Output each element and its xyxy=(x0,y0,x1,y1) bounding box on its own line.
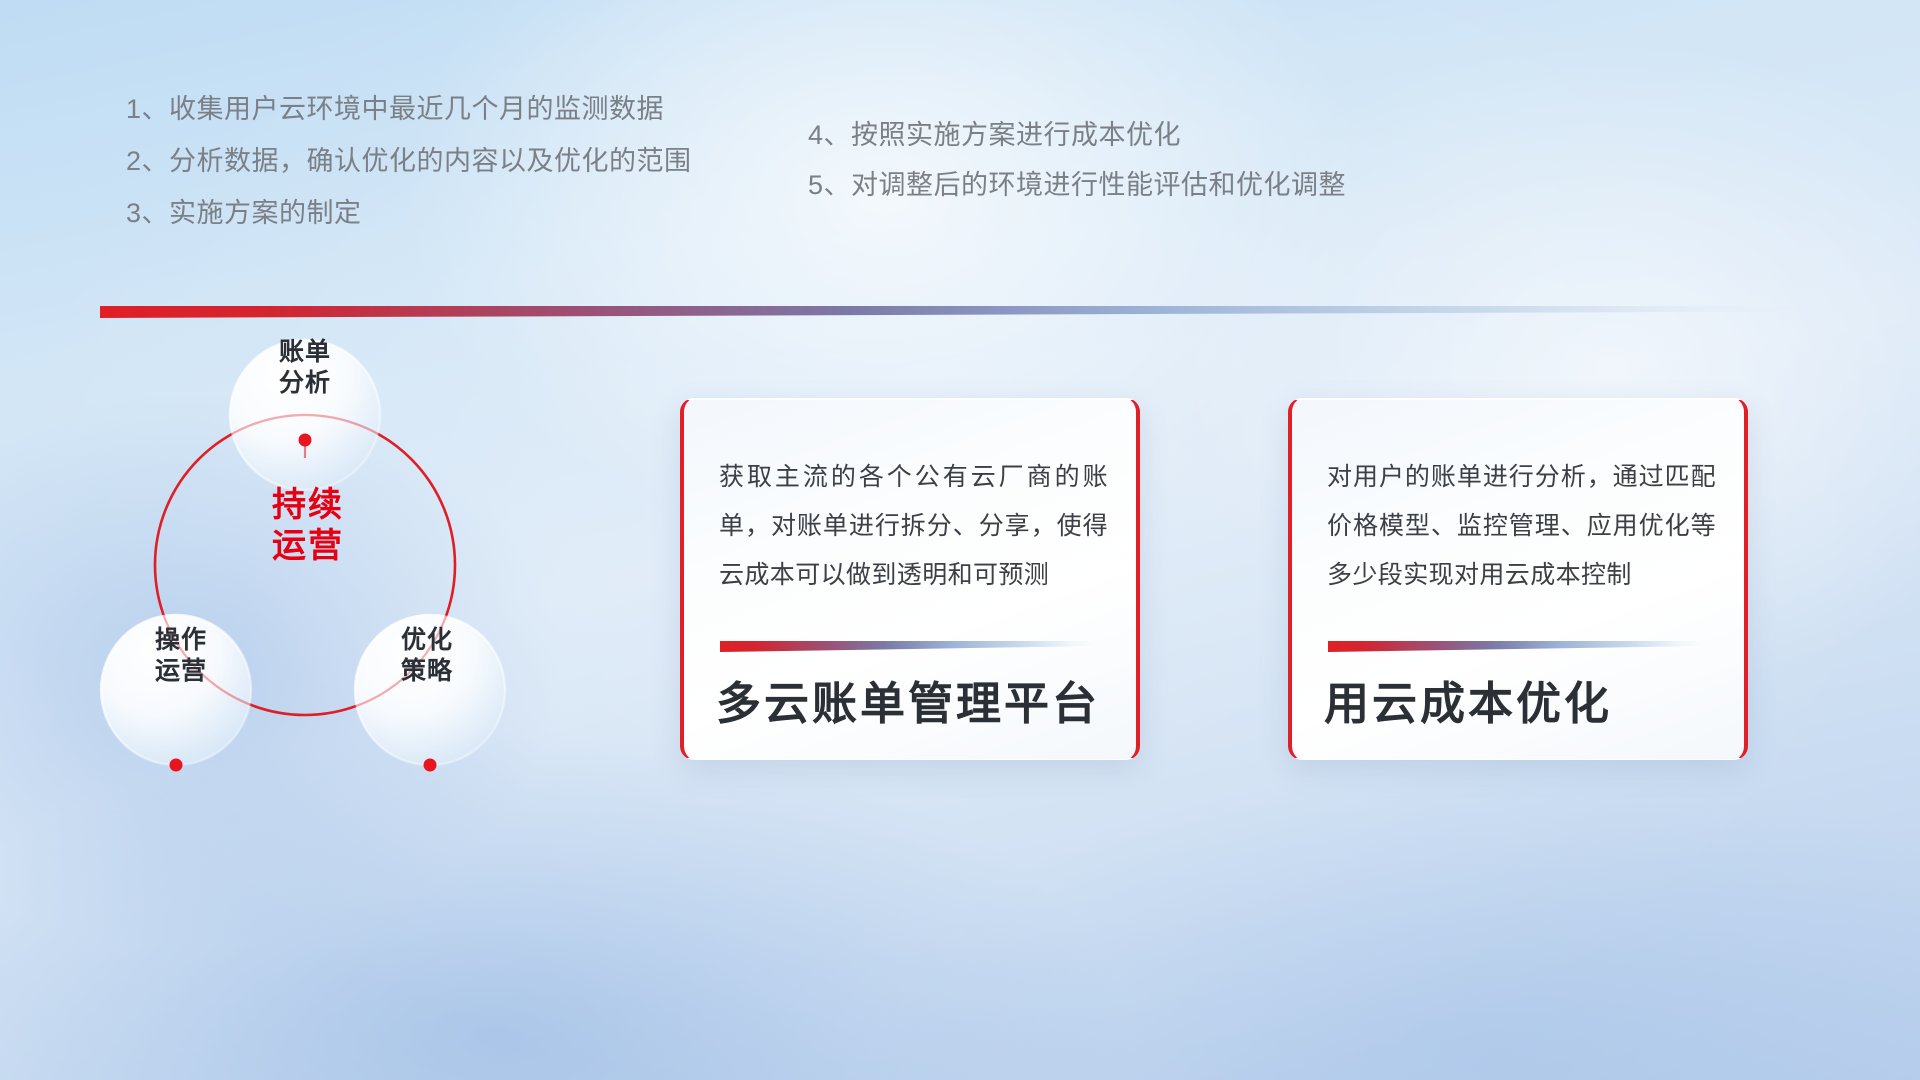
slide-canvas: 1、收集用户云环境中最近几个月的监测数据 2、分析数据，确认优化的内容以及优化的… xyxy=(0,0,1920,1080)
step-item: 4、按照实施方案进行成本优化 xyxy=(808,122,1346,149)
junction-dot-left xyxy=(170,759,183,772)
card-divider xyxy=(720,641,1096,652)
step-item: 2、分析数据，确认优化的内容以及优化的范围 xyxy=(126,148,692,175)
step-item: 1、收集用户云环境中最近几个月的监测数据 xyxy=(126,96,692,123)
steps-list-right: 4、按照实施方案进行成本优化 5、对调整后的环境进行性能评估和优化调整 xyxy=(808,122,1346,222)
feature-card[interactable]: 获取主流的各个公有云厂商的账单，对账单进行拆分、分享，使得云成本可以做到透明和可… xyxy=(680,398,1140,760)
lobe-circle-right xyxy=(355,615,505,765)
card-body-text: 获取主流的各个公有云厂商的账单，对账单进行拆分、分享，使得云成本可以做到透明和可… xyxy=(719,453,1108,599)
feature-card[interactable]: 对用户的账单进行分析，通过匹配价格模型、监控管理、应用优化等多少段实现对用云成本… xyxy=(1288,398,1748,760)
steps-list-left: 1、收集用户云环境中最近几个月的监测数据 2、分析数据，确认优化的内容以及优化的… xyxy=(126,96,692,252)
card-title: 用云成本优化 xyxy=(1324,679,1724,729)
card-divider xyxy=(1328,641,1704,652)
step-item: 5、对调整后的环境进行性能评估和优化调整 xyxy=(808,172,1346,199)
card-body-text: 对用户的账单进行分析，通过匹配价格模型、监控管理、应用优化等多少段实现对用云成本… xyxy=(1327,453,1716,599)
step-item: 3、实施方案的制定 xyxy=(126,200,692,227)
lobe-circle-left xyxy=(101,615,251,765)
junction-dot-right xyxy=(424,759,437,772)
card-title: 多云账单管理平台 xyxy=(716,679,1116,729)
venn-diagram: 账单 分析 操作 运营 优化 策略 持续 运营 xyxy=(80,290,550,790)
